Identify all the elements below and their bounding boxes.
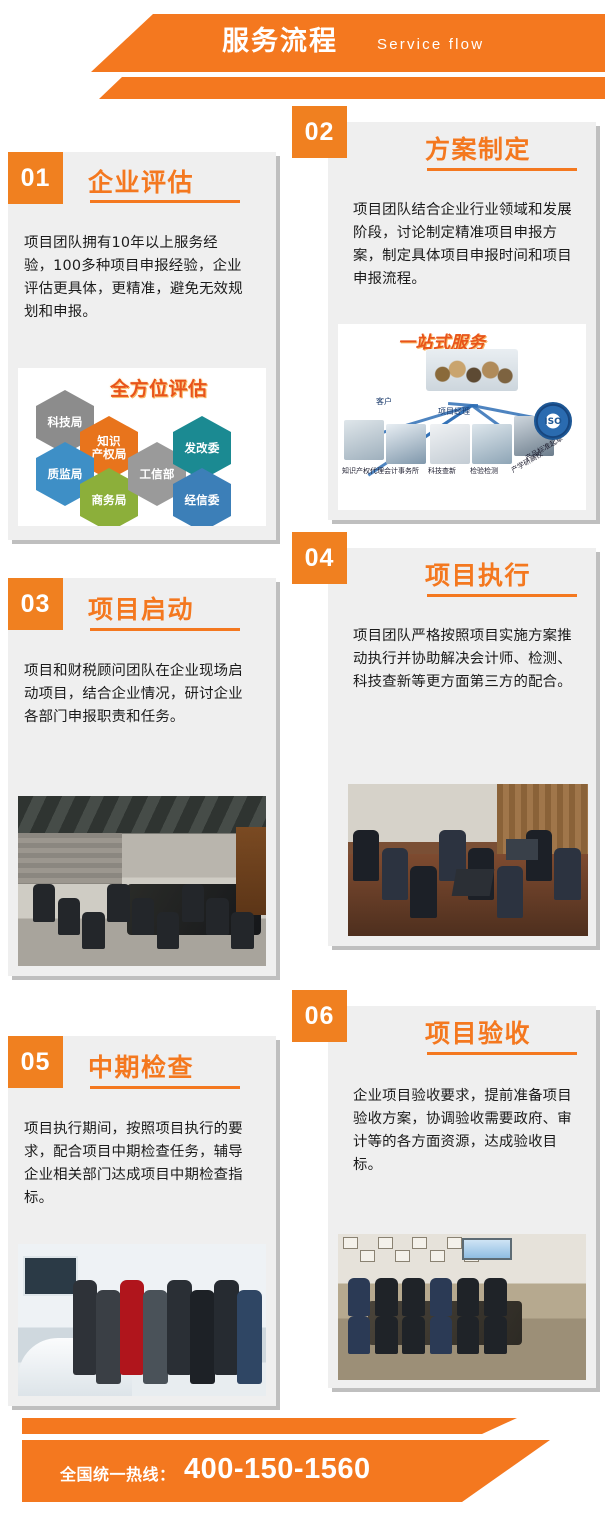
conference-photo <box>338 1234 586 1380</box>
hex-diagram-title: 全方位评估 <box>110 374 208 401</box>
attendee-12 <box>484 1316 506 1354</box>
attendee-1 <box>348 1278 370 1316</box>
worker-3 <box>410 866 436 918</box>
oss-thumbnail-4 <box>472 424 512 464</box>
attendee-7 <box>348 1316 370 1354</box>
certificate-frame-5 <box>412 1237 427 1249</box>
step-title-01: 企业评估 <box>88 163 194 199</box>
attendee-4 <box>430 1278 452 1316</box>
worker-2 <box>382 848 408 900</box>
oss-leaf-label-3: 科技查新 <box>428 466 456 476</box>
step-number-badge-01: 01 <box>8 152 63 204</box>
visitor-8 <box>237 1290 262 1384</box>
meeting-room-photo <box>18 796 266 966</box>
step-body-05: 项目执行期间，按照项目执行的要求，配合项目中期检查任务，辅导企业相关部门达成项目… <box>24 1118 246 1210</box>
attendee-6 <box>484 1278 506 1316</box>
seated-person-4 <box>107 884 129 921</box>
step-title-underline-02 <box>427 168 577 171</box>
step-title-05: 中期检查 <box>88 1048 194 1084</box>
seated-person-9 <box>231 912 253 949</box>
hotline-number[interactable]: 400-150-1560 <box>184 1453 371 1486</box>
attendee-2 <box>375 1278 397 1316</box>
visitor-1 <box>73 1280 98 1374</box>
visitor-4 <box>143 1290 168 1384</box>
step-title-02: 方案制定 <box>425 130 531 166</box>
worker-6 <box>497 866 523 918</box>
seated-person-6 <box>157 912 179 949</box>
oss-node-customer: 客户 <box>376 396 392 407</box>
seated-person-8 <box>206 898 228 935</box>
attendee-3 <box>402 1278 424 1316</box>
laptop-icon-2 <box>506 839 537 860</box>
step-number-badge-05: 05 <box>8 1036 63 1088</box>
laptop-icon-1 <box>451 869 494 896</box>
wall-display <box>462 1238 512 1260</box>
visitor-7 <box>214 1280 239 1374</box>
step-title-04: 项目执行 <box>425 556 531 592</box>
header: 服务流程 Service flow <box>0 0 605 118</box>
step-number-badge-03: 03 <box>8 578 63 630</box>
visitor-3 <box>120 1280 145 1374</box>
attendee-9 <box>402 1316 424 1354</box>
certificate-frame-4 <box>395 1250 410 1262</box>
attendee-8 <box>375 1316 397 1354</box>
service-flow-infographic: 服务流程 Service flow 01 企业评估 项目团队拥有10年以上服务经… <box>0 0 605 1538</box>
stone-wall <box>18 833 122 884</box>
step-title-underline-05 <box>90 1086 240 1089</box>
seated-person-1 <box>33 884 55 921</box>
step-title-underline-06 <box>427 1052 577 1055</box>
one-stop-service-diagram: 一站式服务 客户 项目经理 知识产权代理会计事务所科技查新检验检测产学研高校产品… <box>338 324 586 510</box>
certificate-frame-2 <box>360 1250 375 1262</box>
seated-person-7 <box>182 884 204 921</box>
site-visit-photo <box>18 1244 266 1396</box>
page-title: 服务流程 <box>222 24 338 60</box>
certificate-frame-6 <box>430 1250 445 1262</box>
ceiling-panels <box>18 796 266 833</box>
oss-thumbnail-3 <box>430 424 470 464</box>
step-title-underline-04 <box>427 594 577 597</box>
visitor-2 <box>96 1290 121 1384</box>
page-subtitle: Service flow <box>377 36 484 53</box>
attendee-5 <box>457 1278 479 1316</box>
seated-person-2 <box>58 898 80 935</box>
hotline-label: 全国统一热线： <box>60 1461 176 1485</box>
work-session-photo <box>348 784 588 936</box>
seated-person-5 <box>132 898 154 935</box>
certificate-frame-1 <box>343 1237 358 1249</box>
iso-seal-icon <box>534 402 572 440</box>
oss-thumbnail-2 <box>386 424 426 464</box>
oss-leaf-label-1: 知识产权代理 <box>342 466 384 476</box>
step-number-badge-04: 04 <box>292 532 347 584</box>
certificate-frame-3 <box>378 1237 393 1249</box>
meeting-thumbnail-icon <box>426 349 518 391</box>
oss-leaf-label-2: 会计事务所 <box>384 466 419 476</box>
oss-thumbnail-1 <box>344 420 384 460</box>
visitor-5 <box>167 1280 192 1374</box>
step-body-01: 项目团队拥有10年以上服务经验，100多种项目申报经验，企业评估更具体，更精准，… <box>24 232 246 324</box>
attendee-10 <box>430 1316 452 1354</box>
worker-1 <box>353 830 379 882</box>
step-title-03: 项目启动 <box>88 590 194 626</box>
step-title-underline-01 <box>90 200 240 203</box>
step-number-badge-06: 06 <box>292 990 347 1042</box>
step-body-06: 企业项目验收要求，提前准备项目验收方案，协调验收需要政府、审计等的各方面资源，达… <box>353 1085 575 1177</box>
step-body-04: 项目团队严格按照项目实施方案推动执行并协助解决会计师、检测、科技查新等更方面第三… <box>353 625 575 694</box>
display-screen <box>23 1256 78 1296</box>
seated-person-3 <box>82 912 104 949</box>
footer: 全国统一热线： 400-150-1560 <box>0 1408 605 1538</box>
wood-column <box>236 827 266 915</box>
worker-8 <box>554 848 580 900</box>
attendee-11 <box>457 1316 479 1354</box>
footer-accent-stripe <box>22 1418 605 1434</box>
certificate-frame-7 <box>447 1237 462 1249</box>
oss-node-project-manager: 项目经理 <box>438 406 470 417</box>
visitor-6 <box>190 1290 215 1384</box>
header-accent-stripe <box>0 77 605 99</box>
oss-leaf-label-4: 检验检测 <box>470 466 498 476</box>
step-number-badge-02: 02 <box>292 106 347 158</box>
step-body-02: 项目团队结合企业行业领域和发展阶段，讨论制定精准项目申报方案，制定具体项目申报时… <box>353 199 575 291</box>
step-title-06: 项目验收 <box>425 1014 531 1050</box>
assessment-hex-diagram: 全方位评估 科技局知识产权局质监局商务局工信部发改委经信委 <box>18 368 266 526</box>
step-body-03: 项目和财税顾问团队在企业现场启动项目，结合企业情况，研讨企业各部门申报职责和任务… <box>24 660 246 729</box>
step-title-underline-03 <box>90 628 240 631</box>
